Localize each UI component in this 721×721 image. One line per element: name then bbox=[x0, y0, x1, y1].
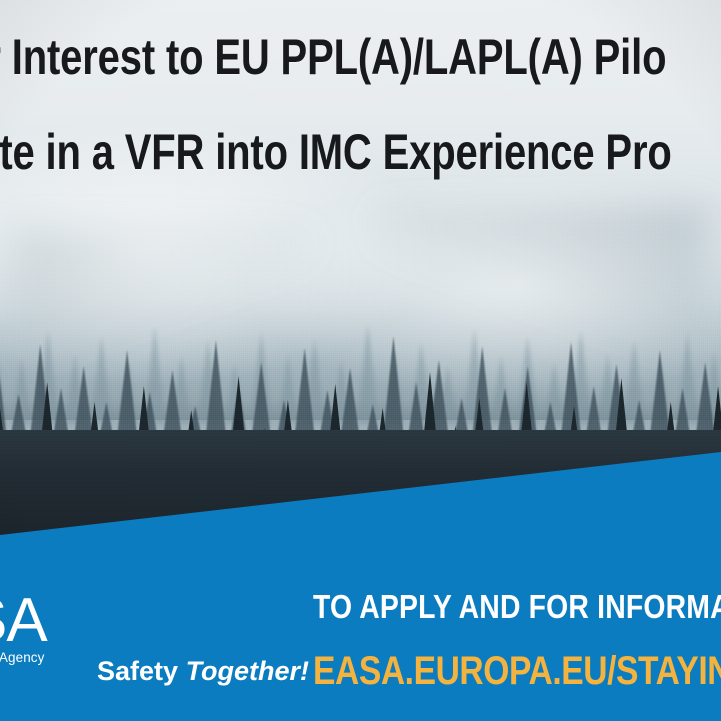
cta-headline: TO APPLY AND FOR INFORMATI bbox=[313, 590, 721, 623]
cta-url[interactable]: EASA.EUROPA.EU/STAYING bbox=[313, 651, 721, 691]
headline-line-2: ipate in a VFR into IMC Experience Pro bbox=[0, 127, 672, 177]
tagline-word-together: Together! bbox=[186, 656, 310, 686]
easa-logo-subtitle: afety Agency bbox=[0, 651, 47, 665]
easa-logo-wordmark: SA bbox=[0, 592, 47, 649]
headline-line-1: for Interest to EU PPL(A)/LAPL(A) Pilo bbox=[0, 32, 666, 82]
tagline-word-safety: Safety bbox=[97, 656, 178, 686]
safety-together-tagline: Safety Together! bbox=[97, 658, 309, 685]
easa-promotional-poster: for Interest to EU PPL(A)/LAPL(A) Pilo i… bbox=[0, 0, 721, 721]
call-to-action-block: TO APPLY AND FOR INFORMATI EASA.EUROPA.E… bbox=[313, 590, 721, 691]
easa-logo[interactable]: SA afety Agency bbox=[0, 592, 47, 665]
